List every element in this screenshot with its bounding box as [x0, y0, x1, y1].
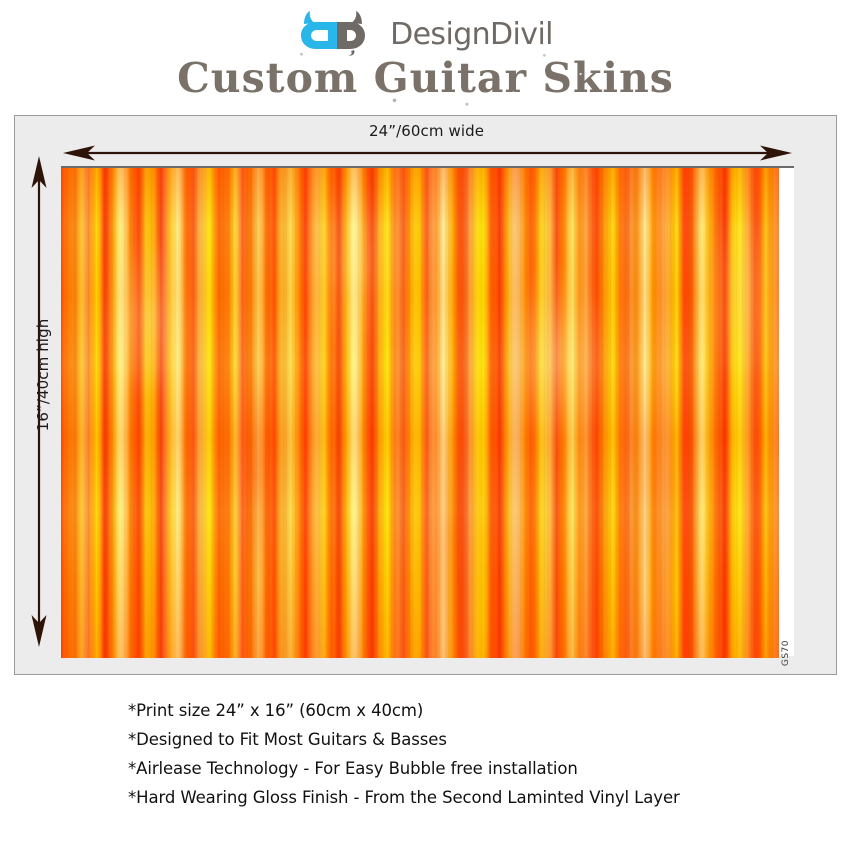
height-dimension-arrow-icon: [31, 154, 47, 649]
feature-list: *Print size 24” x 16” (60cm x 40cm) *Des…: [128, 696, 828, 812]
guitar-skin-plate: GS70: [61, 166, 794, 656]
width-dimension-label: 24”/60cm wide: [15, 122, 838, 140]
feature-item: *Print size 24” x 16” (60cm x 40cm): [128, 696, 828, 725]
tagline-row: Custom Guitar Skins: [0, 50, 851, 106]
page-header: DesignDivil Custom Guitar Skins: [0, 0, 851, 112]
fire-shading-layer: [61, 168, 779, 658]
feature-item: *Hard Wearing Gloss Finish - From the Se…: [128, 783, 828, 812]
feature-item: *Airlease Technology - For Easy Bubble f…: [128, 754, 828, 783]
product-code-label: GS70: [781, 640, 791, 666]
fire-flames-artwork: [61, 168, 779, 658]
feature-item: *Designed to Fit Most Guitars & Basses: [128, 725, 828, 754]
width-dimension-arrow-icon: [61, 145, 794, 161]
brand-name: DesignDivil: [390, 20, 553, 50]
tagline-text: Custom Guitar Skins: [177, 58, 674, 99]
product-preview-frame: 24”/60cm wide 16”/40cm high GS70: [14, 115, 837, 675]
